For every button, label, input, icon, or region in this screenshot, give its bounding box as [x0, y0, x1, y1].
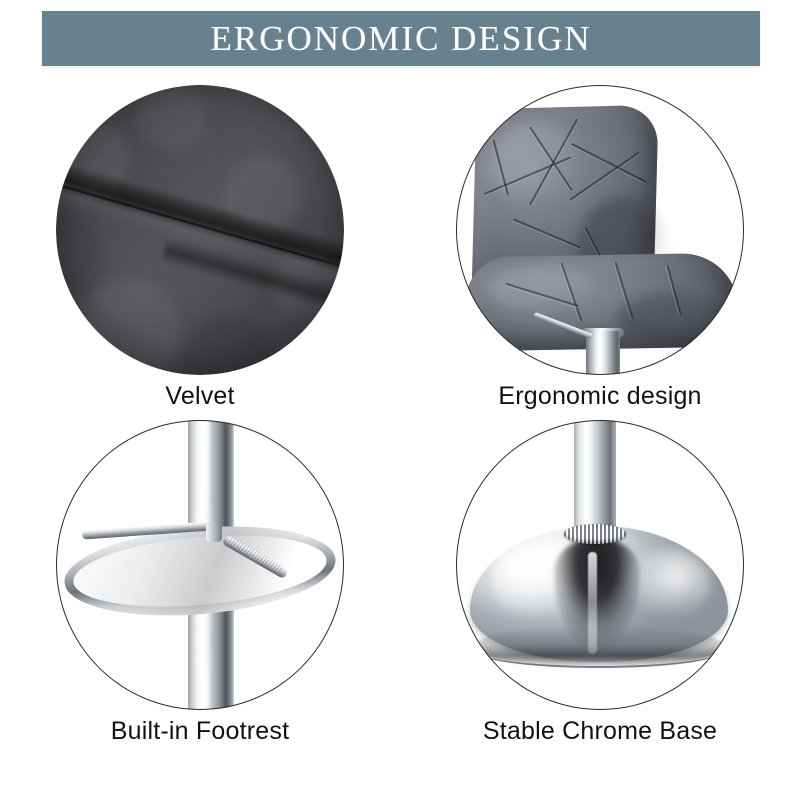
velvet-media [56, 85, 344, 375]
velvet-circle-frame [56, 85, 344, 375]
footrest-joint [206, 522, 222, 542]
header-banner: ERGONOMIC DESIGN [42, 11, 760, 66]
seat-highlight [487, 265, 598, 311]
base-rim-edge [476, 634, 722, 668]
ergonomic-design-media [456, 85, 744, 375]
footrest-media [56, 420, 344, 710]
feature-item-ergonomic-design[interactable]: Ergonomic design [400, 85, 800, 425]
feature-grid: Velvet [0, 80, 800, 780]
backrest-stitch [571, 143, 647, 183]
feature-label-stable-chrome-base: Stable Chrome Base [400, 716, 800, 746]
velvet-fabric-swatch-photo [56, 85, 344, 375]
ergonomic-circle-frame [456, 85, 744, 375]
feature-label-velvet: Velvet [0, 381, 400, 411]
feature-infographic-page: ERGONOMIC DESIGN Velvet [0, 0, 800, 800]
feature-item-velvet[interactable]: Velvet [0, 85, 400, 425]
chrome-base-circle-frame [456, 420, 744, 710]
feature-label-ergonomic-design: Ergonomic design [400, 381, 800, 411]
chrome-footrest-ring-photo [56, 420, 344, 710]
velvet-vignette [56, 85, 344, 375]
backrest-stitch [570, 151, 640, 200]
chrome-center-column [574, 420, 616, 530]
height-adjust-lever-tip [521, 353, 536, 364]
chrome-base-media [456, 420, 744, 710]
backrest-stitch [513, 218, 581, 248]
feature-item-stable-chrome-base[interactable]: Stable Chrome Base [400, 420, 800, 760]
knurled-collar-ring [564, 524, 626, 544]
ergonomic-chair-photo [456, 85, 744, 375]
feature-item-built-in-footrest[interactable]: Built-in Footrest [0, 420, 400, 760]
page-title: ERGONOMIC DESIGN [210, 21, 591, 56]
feature-label-built-in-footrest: Built-in Footrest [0, 716, 400, 746]
footrest-circle-frame [56, 420, 344, 710]
chrome-base-disc-photo [456, 420, 744, 710]
